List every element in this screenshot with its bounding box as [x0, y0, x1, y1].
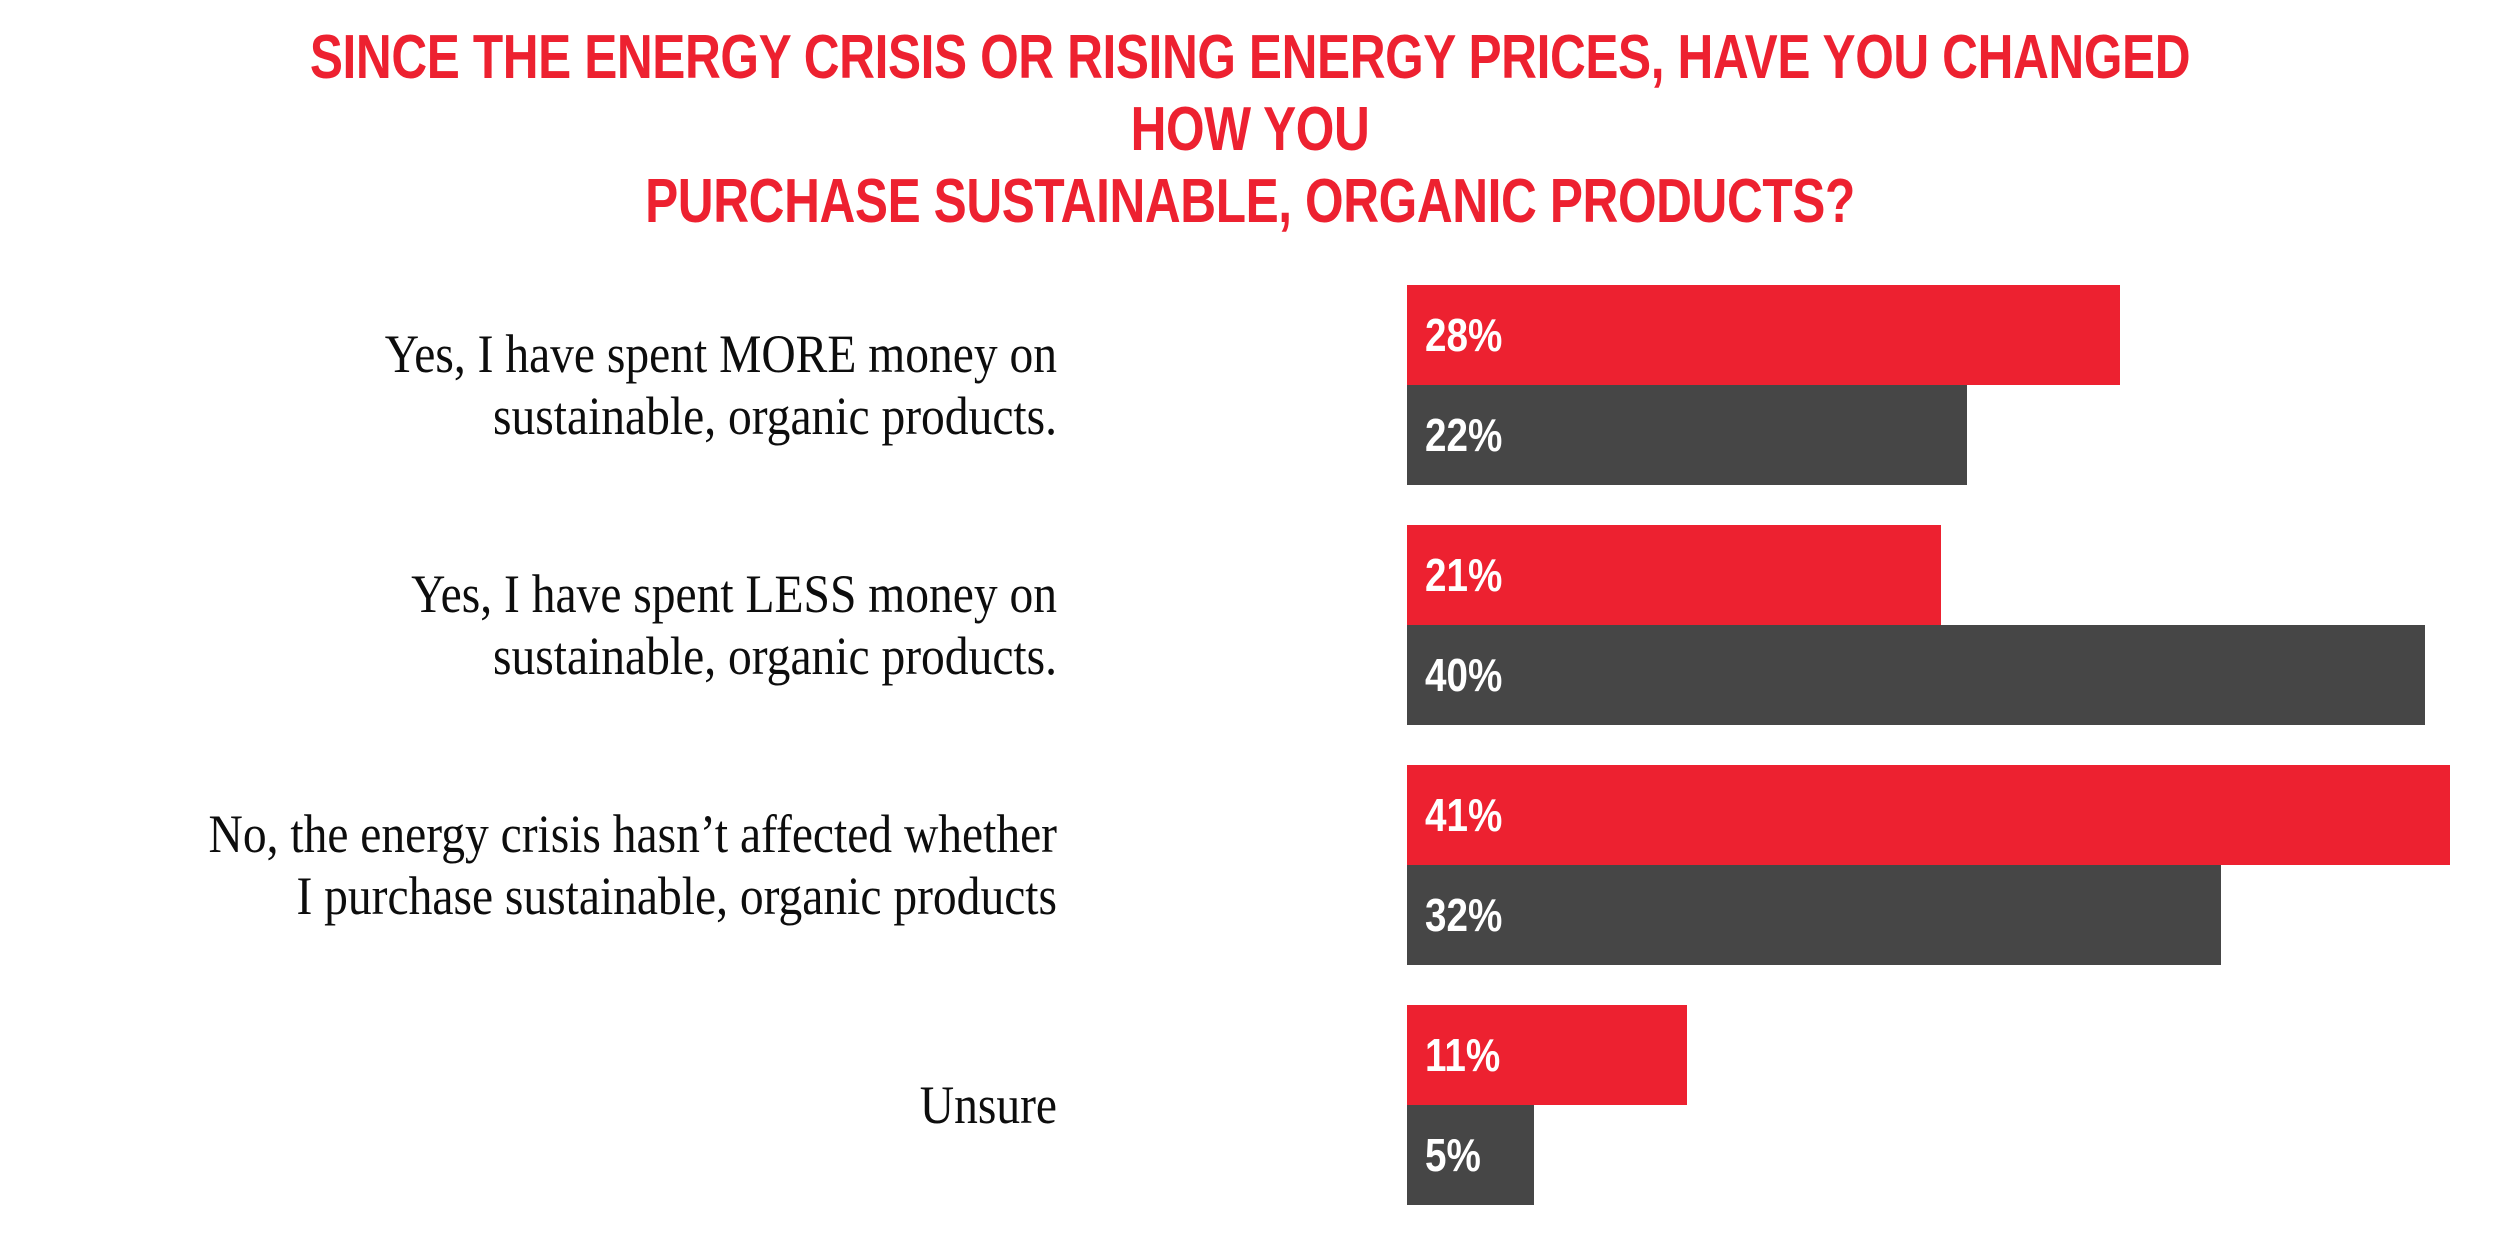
- bar-group: Unsure 11% 5%: [0, 1005, 2500, 1205]
- bar-group: Yes, I have spent LESS money on sustaina…: [0, 525, 2500, 725]
- bar-pair: 21% 40%: [1407, 525, 2425, 725]
- bar-series-1: 28%: [1407, 285, 2120, 385]
- bar-pair: 28% 22%: [1407, 285, 2120, 485]
- bar-value-label: 21%: [1425, 552, 1502, 598]
- bar-value-label: 32%: [1425, 892, 1502, 938]
- bar-series-2: 40%: [1407, 625, 2425, 725]
- bar-pair: 41% 32%: [1407, 765, 2450, 965]
- bar-series-1: 41%: [1407, 765, 2450, 865]
- bar-value-label: 5%: [1425, 1132, 1481, 1178]
- bar-value-label: 11%: [1425, 1032, 1500, 1078]
- bar-series-2: 32%: [1407, 865, 2221, 965]
- bar-series-1: 21%: [1407, 525, 1941, 625]
- bar-series-2: 5%: [1407, 1105, 1534, 1205]
- bar-value-label: 41%: [1425, 792, 1502, 838]
- category-label: Yes, I have spent LESS money on sustaina…: [0, 525, 1057, 725]
- bar-series-1: 11%: [1407, 1005, 1687, 1105]
- bar-chart-plot-area: Yes, I have spent MORE money on sustaina…: [0, 180, 2500, 1244]
- bar-value-label: 28%: [1425, 312, 1502, 358]
- bar-group: No, the energy crisis hasn’t affected wh…: [0, 765, 2500, 965]
- bar-group: Yes, I have spent MORE money on sustaina…: [0, 285, 2500, 485]
- bar-value-label: 40%: [1425, 652, 1502, 698]
- bar-series-2: 22%: [1407, 385, 1967, 485]
- bar-value-label: 22%: [1425, 412, 1502, 458]
- category-label: Unsure: [0, 1005, 1057, 1205]
- chart-canvas: SINCE THE ENERGY CRISIS OR RISING ENERGY…: [0, 0, 2500, 1244]
- category-label: Yes, I have spent MORE money on sustaina…: [0, 285, 1057, 485]
- category-label: No, the energy crisis hasn’t affected wh…: [0, 765, 1057, 965]
- bar-pair: 11% 5%: [1407, 1005, 1687, 1205]
